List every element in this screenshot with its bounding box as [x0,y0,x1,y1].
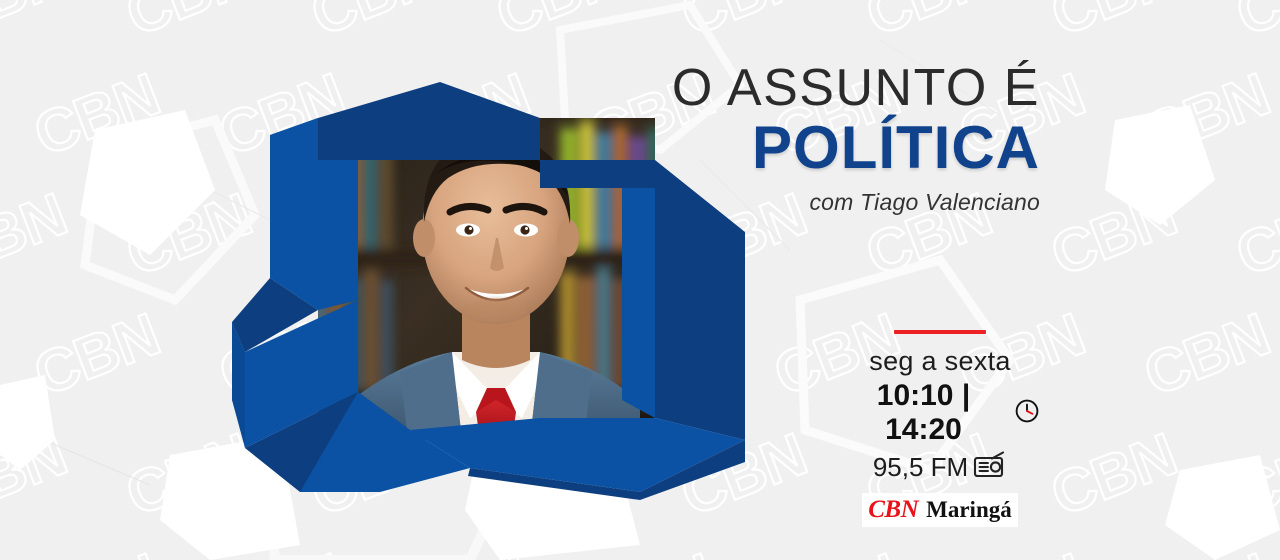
schedule-block: seg a sexta 10:10 | 14:20 95,5 FM [840,330,1040,527]
radio-icon [973,451,1007,483]
show-name: POLÍTICA [480,116,1040,179]
show-title-block: O ASSUNTO É POLÍTICA com Tiago Valencian… [480,62,1040,216]
cbn-maringa-logo: CBN Maringá [862,493,1018,527]
page-title: O ASSUNTO É [480,62,1040,114]
clock-icon [1014,398,1040,429]
cbn-brand-label: CBN [868,496,918,524]
radio-show-banner: CBNCBNCBNCBNCBNCBNCBNCBNCBNCBNCBNCBNCBNC… [0,0,1280,560]
schedule-frequency-label: 95,5 FM [873,452,968,483]
schedule-divider [894,330,986,334]
schedule-times-row: 10:10 | 14:20 [840,379,1040,447]
schedule-frequency-row: 95,5 FM [840,451,1040,483]
host-credit-label: com Tiago Valenciano [480,189,1040,216]
schedule-days-label: seg a sexta [840,346,1040,377]
cbn-city-label: Maringá [926,497,1012,523]
text-content: O ASSUNTO É POLÍTICA com Tiago Valencian… [0,0,1280,560]
schedule-times-label: 10:10 | 14:20 [840,379,1007,447]
